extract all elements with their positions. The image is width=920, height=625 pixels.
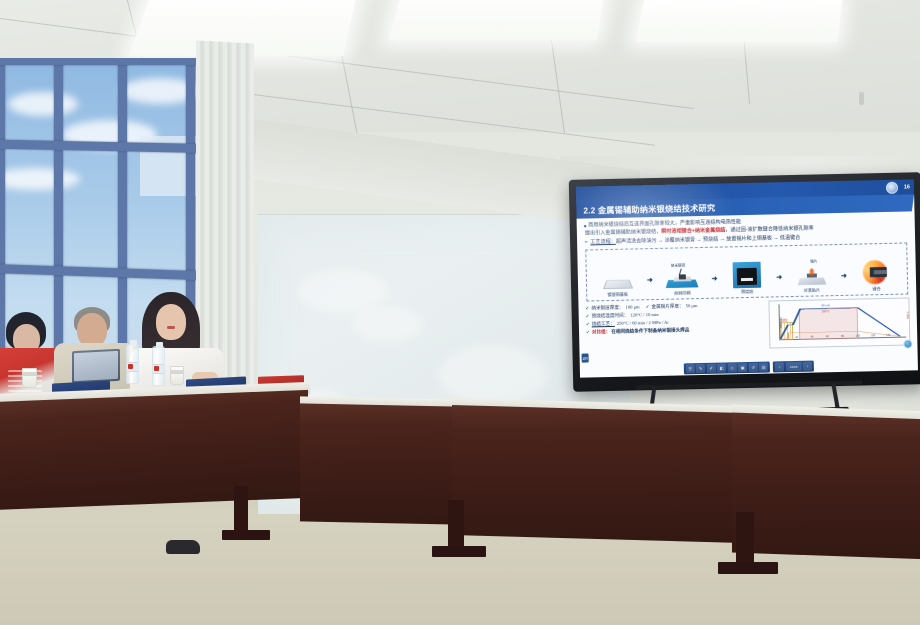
bullet-2-text-a: 提出引入金属锡辅助纳米银烧结， bbox=[585, 229, 662, 237]
desk-leg bbox=[448, 500, 464, 552]
bullet-2-text-b: ，通过固-液扩散键合降低纳米银孔隙率 bbox=[725, 226, 813, 234]
presentation-slide: 16 2.2 金属锡辅助纳米银烧结技术研究 ■ 商用纳米银烧结后互连界面孔隙率较… bbox=[576, 179, 918, 377]
chart-secondary-axis-label: 2 MPa bbox=[906, 312, 909, 320]
chart-x-tick: 0 bbox=[781, 336, 782, 339]
display-bezel: 16 2.2 金属锡辅助纳米银烧结技术研究 ■ 商用纳米银烧结后互连界面孔隙率较… bbox=[569, 172, 920, 392]
substrate-illustration bbox=[590, 256, 644, 291]
chart-x-tick: 60 bbox=[826, 335, 829, 338]
nano-silver-paste-label: 纳米银膏 bbox=[671, 263, 685, 268]
bullet-square-icon: ■ bbox=[584, 222, 587, 230]
menu-icon[interactable]: ☰ bbox=[686, 364, 695, 373]
ceiling-light-panel-2 bbox=[389, 0, 605, 40]
front-desk-right bbox=[452, 405, 742, 543]
bonding-illustration bbox=[849, 250, 903, 285]
chart-y-axis-label: 温度 (°C) bbox=[780, 317, 784, 328]
water-bottle-1 bbox=[126, 344, 139, 384]
desk-leg bbox=[234, 486, 248, 536]
process-step-caption: 预烧结 bbox=[741, 288, 753, 294]
flow-arrow-icon: ➜ bbox=[712, 275, 718, 295]
assistant-icon[interactable] bbox=[903, 339, 912, 348]
undo-icon[interactable]: ↺ bbox=[749, 363, 758, 372]
chart-x-tick: 120 bbox=[871, 334, 875, 337]
process-flow-diagram: 镀银铜基板 ➜ 纳米银膏 bbox=[585, 242, 908, 301]
process-step-place-die: 锡片 对准贴片 bbox=[785, 252, 839, 294]
pen-icon[interactable]: ✎ bbox=[696, 364, 705, 373]
parameter-label: 金属锡片厚度： bbox=[651, 302, 683, 311]
meeting-room-photo: 16 2.2 金属锡辅助纳米银烧结技术研究 ■ 商用纳米银烧结后互连界面孔隙率较… bbox=[0, 0, 920, 625]
flow-arrow-icon: ➜ bbox=[647, 277, 653, 297]
screen-printer-illustration: 纳米银膏 bbox=[655, 254, 709, 289]
check-icon: ✓ bbox=[646, 303, 650, 311]
process-step-caption: 镀银铜基板 bbox=[607, 291, 628, 297]
eraser-icon[interactable]: ◧ bbox=[717, 363, 726, 372]
process-step-bonding: 键合 bbox=[849, 250, 903, 292]
presenter-console bbox=[732, 413, 920, 560]
sintering-profile-chart: 60 min 250°C 预烧结 温度 (°C) 0 20 40 60 80 bbox=[768, 297, 910, 348]
slide-back-button[interactable]: 返回 bbox=[582, 353, 589, 362]
check-icon: ✓ bbox=[586, 312, 590, 320]
die-placement-illustration: 锡片 bbox=[785, 252, 839, 287]
lips bbox=[167, 326, 175, 329]
slide-body: ■ 商用纳米银烧结后互连界面孔隙率较大，严重影响互连结构电热性能 提出引入金属锡… bbox=[577, 211, 918, 377]
shape-icon[interactable]: ◇ bbox=[728, 363, 737, 372]
sprinkler-head-icon bbox=[859, 92, 864, 105]
shoe bbox=[166, 540, 200, 554]
process-step-caption: 键合 bbox=[872, 286, 880, 292]
desk-foot bbox=[432, 546, 486, 557]
process-step-pre-sinter: 预烧结 bbox=[720, 253, 774, 295]
process-step-substrate: 镀银铜基板 bbox=[590, 256, 644, 298]
parameter-list: ✓ 纳米银层厚度： 100 μm ✓ 金属锡片厚度： 50 μm ✓ 预烧结温度 bbox=[585, 300, 765, 336]
parameter-value: 50 μm bbox=[686, 302, 698, 310]
tin-foil-label: 锡片 bbox=[810, 259, 817, 264]
toolbar-tool-group[interactable]: ☰ ✎ ✐ ◧ ◇ ▣ ↺ ▤ bbox=[684, 362, 771, 375]
furnace-illustration bbox=[720, 253, 774, 288]
prev-page-icon[interactable]: ‹ bbox=[775, 362, 784, 371]
desk-foot bbox=[222, 530, 270, 540]
check-icon: ✓ bbox=[586, 320, 590, 328]
display-screen[interactable]: 16 2.2 金属锡辅助纳米银烧结技术研究 ■ 商用纳米银烧结后互连界面孔隙率较… bbox=[576, 179, 918, 377]
paper-cup-2 bbox=[170, 366, 184, 385]
desk-foot bbox=[718, 562, 778, 574]
chart-x-tick: 80 bbox=[841, 334, 844, 337]
wall-display[interactable]: 16 2.2 金属锡辅助纳米银烧结技术研究 ■ 商用纳米银烧结后互连界面孔隙率较… bbox=[569, 172, 920, 392]
next-page-icon[interactable]: › bbox=[803, 362, 812, 371]
university-logo-icon bbox=[886, 181, 898, 193]
chart-annotation-temperature: 250°C bbox=[822, 309, 830, 313]
process-step-caption: 丝网印刷 bbox=[674, 290, 691, 296]
chart-x-tick: 140 bbox=[886, 333, 890, 336]
page-indicator[interactable]: 16/28 bbox=[786, 362, 802, 371]
chart-x-tick: 40 bbox=[811, 335, 814, 338]
laptop[interactable] bbox=[72, 349, 120, 384]
front-desk-center bbox=[300, 403, 460, 524]
bullet-2-highlight: 瞬时液相键合+纳米金属烧结 bbox=[661, 228, 725, 235]
select-icon[interactable]: ▣ bbox=[738, 363, 747, 372]
flow-arrow-icon: ➜ bbox=[841, 272, 847, 292]
check-icon: ✓ bbox=[585, 304, 589, 312]
desk-leg bbox=[736, 512, 754, 568]
chart-plot-area: 60 min 250°C 预烧结 温度 (°C) 0 20 40 60 80 bbox=[778, 301, 906, 340]
conclusion-text: 在相同烧结条件下制备纳米银接头焊品 bbox=[611, 326, 689, 336]
slide-page-number: 16 bbox=[904, 184, 910, 190]
flow-arrow-icon: ➜ bbox=[776, 274, 782, 294]
process-step-screen-print: 纳米银膏 丝网印刷 bbox=[655, 254, 709, 296]
chart-x-tick: 20 bbox=[795, 335, 798, 338]
toolbar-nav-group[interactable]: ‹ 16/28 › bbox=[773, 361, 814, 373]
highlighter-icon[interactable]: ✐ bbox=[707, 364, 716, 373]
page-icon[interactable]: ▤ bbox=[759, 363, 768, 372]
head bbox=[77, 313, 107, 347]
front-desk-left bbox=[0, 390, 308, 510]
check-icon: ✓ bbox=[586, 328, 590, 336]
chart-x-tick: 100 bbox=[856, 334, 860, 337]
process-step-caption: 对准贴片 bbox=[804, 287, 821, 293]
bullet-arrow-icon: ➣ bbox=[584, 239, 588, 247]
ceiling-light-panel-3 bbox=[635, 0, 842, 42]
paper-cup-1 bbox=[22, 368, 37, 388]
chart-annotation-hold-time: 60 min bbox=[821, 303, 829, 307]
slide-bottom-row: ✓ 纳米银层厚度： 100 μm ✓ 金属锡片厚度： 50 μm ✓ 预烧结温度 bbox=[585, 297, 910, 352]
head bbox=[156, 304, 186, 340]
process-route-label: 工艺流程： bbox=[590, 239, 616, 246]
conclusion-highlight: 对比组： bbox=[592, 328, 611, 337]
water-bottle-2 bbox=[152, 346, 165, 386]
